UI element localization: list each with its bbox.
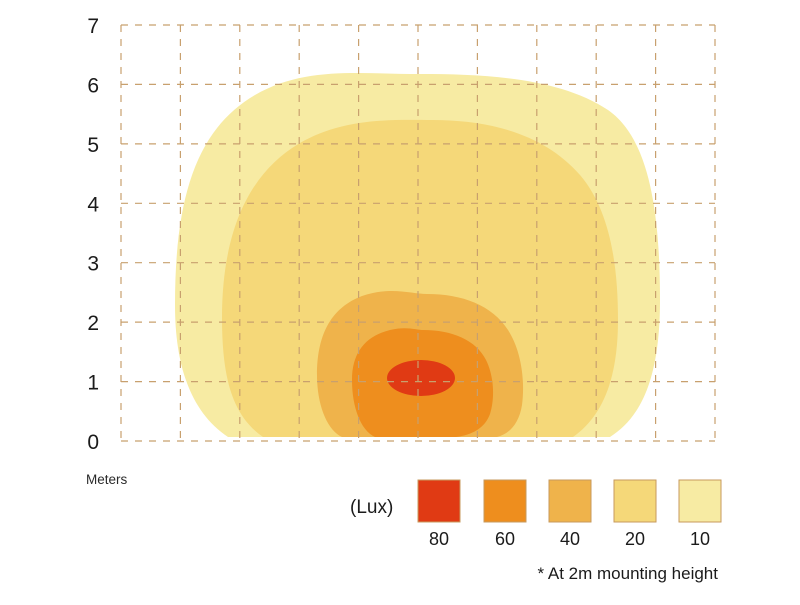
chart-svg: 7 6 5 4 3 2 1 0 Meters (Lux) 80 60 40 20… — [0, 0, 800, 600]
legend-value-10: 10 — [690, 529, 710, 549]
y-axis-tick-4: 4 — [87, 193, 99, 216]
contour-band-80 — [387, 360, 455, 396]
lux-distribution-chart: 7 6 5 4 3 2 1 0 Meters (Lux) 80 60 40 20… — [0, 0, 800, 600]
legend-title: (Lux) — [350, 497, 393, 518]
legend-footnote: * At 2m mounting height — [537, 564, 718, 583]
y-axis-unit-label: Meters — [86, 472, 128, 487]
y-axis-tick-0: 0 — [87, 431, 99, 454]
legend-swatch-20 — [614, 480, 656, 522]
y-axis-tick-2: 2 — [87, 312, 99, 335]
y-axis-tick-1: 1 — [87, 372, 99, 395]
y-axis-tick-5: 5 — [87, 134, 99, 157]
legend-swatch-40 — [549, 480, 591, 522]
legend-swatch-10 — [679, 480, 721, 522]
legend-value-80: 80 — [429, 529, 449, 549]
y-axis-tick-7: 7 — [87, 15, 99, 38]
legend-value-60: 60 — [495, 529, 515, 549]
y-axis-tick-6: 6 — [87, 74, 99, 97]
y-axis-tick-3: 3 — [87, 253, 99, 276]
legend-swatch-80 — [418, 480, 460, 522]
legend-value-40: 40 — [560, 529, 580, 549]
legend-value-20: 20 — [625, 529, 645, 549]
legend-swatch-60 — [484, 480, 526, 522]
